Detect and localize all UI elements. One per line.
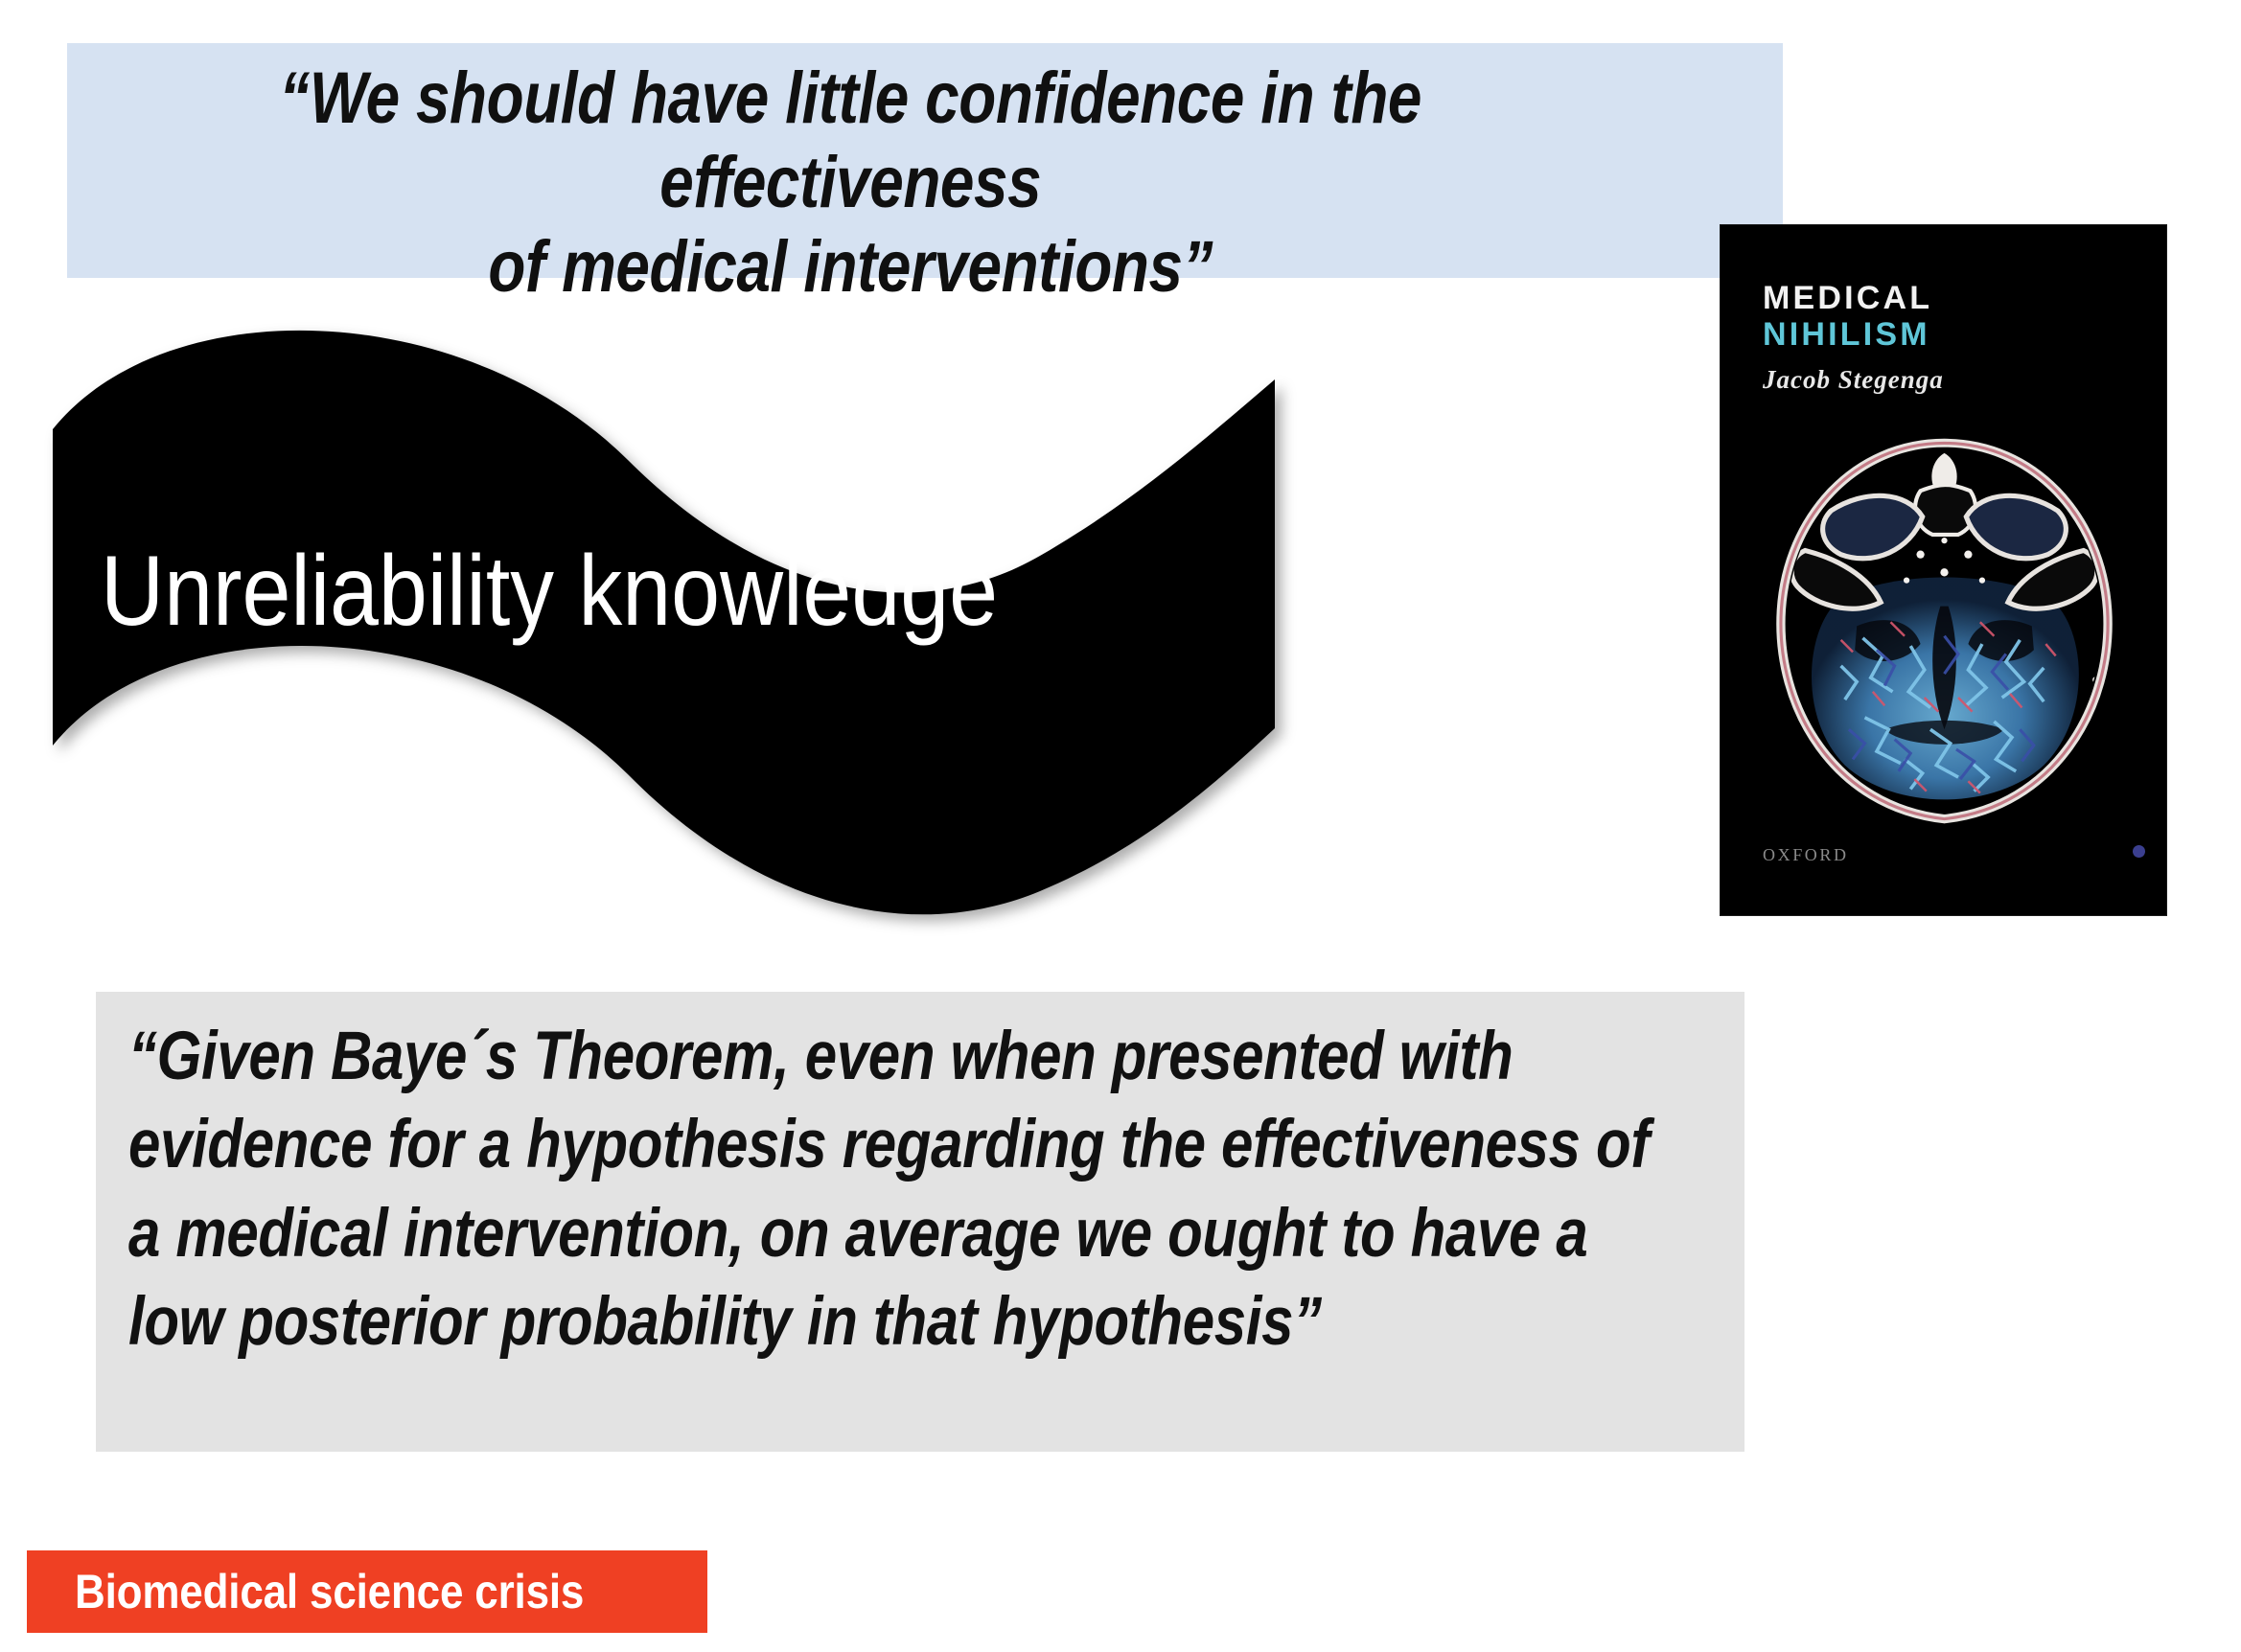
book-cover: MEDICAL NIHILISM Jacob Stegenga [1721,225,2166,915]
footer-tag-label: Biomedical science crisis [75,1564,584,1619]
book-publisher: OXFORD [1763,845,1849,865]
bottom-quote-text: “Given Baye´s Theorem, even when present… [128,1013,1714,1366]
wave-banner-path [53,331,1275,914]
wave-banner-shape [53,316,1275,891]
book-title-line1: MEDICAL [1763,279,1932,317]
slide-canvas: “We should have little confidence in the… [0,0,2241,1652]
top-quote-text: “We should have little confidence in the… [87,57,1612,310]
cover-accent-dot [2133,845,2145,858]
bottom-quote-box: “Given Baye´s Theorem, even when present… [96,992,1744,1452]
book-author: Jacob Stegenga [1763,365,1944,395]
brain-scan-image [1745,431,2143,829]
book-title-line2: NIHILISM [1763,315,1930,354]
footer-tag: Biomedical science crisis [27,1550,707,1633]
top-quote-box: “We should have little confidence in the… [67,43,1783,278]
